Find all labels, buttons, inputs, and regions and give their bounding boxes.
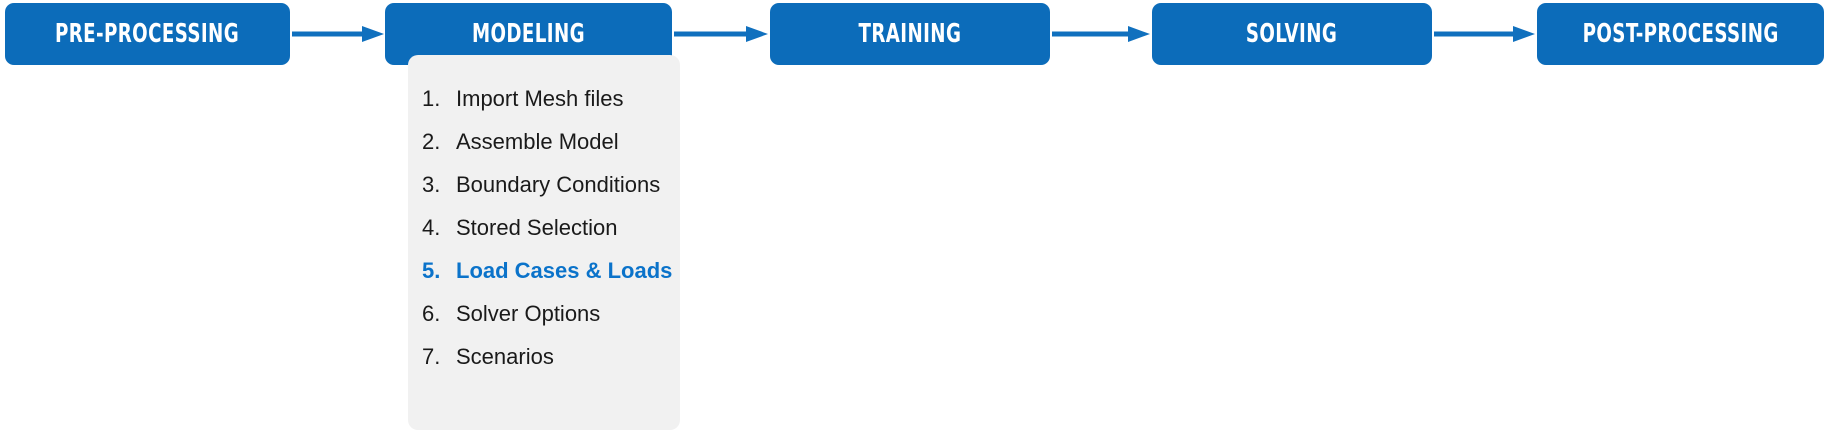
stage-label: SOLVING bbox=[1246, 21, 1337, 47]
list-item-label: Boundary Conditions bbox=[456, 163, 660, 206]
list-item-number: 6. bbox=[422, 292, 456, 335]
stage-label: MODELING bbox=[472, 21, 585, 47]
list-item-label: Scenarios bbox=[456, 335, 554, 378]
modeling-step-list: 1. Import Mesh files 2. Assemble Model 3… bbox=[408, 77, 680, 378]
arrow-right-icon-2 bbox=[674, 25, 768, 43]
arrow-right-icon-1 bbox=[292, 25, 384, 43]
arrow-right-icon-3 bbox=[1052, 25, 1150, 43]
list-item-number: 4. bbox=[422, 206, 456, 249]
list-item[interactable]: 4. Stored Selection bbox=[408, 206, 680, 249]
list-item[interactable]: 7. Scenarios bbox=[408, 335, 680, 378]
list-item-number: 1. bbox=[422, 77, 456, 120]
list-item[interactable]: 3. Boundary Conditions bbox=[408, 163, 680, 206]
list-item[interactable]: 2. Assemble Model bbox=[408, 120, 680, 163]
stage-label: PRE-PROCESSING bbox=[55, 21, 239, 47]
list-item-number: 3. bbox=[422, 163, 456, 206]
list-item-number: 2. bbox=[422, 120, 456, 163]
list-item-active[interactable]: 5. Load Cases & Loads bbox=[408, 249, 680, 292]
list-item-label: Assemble Model bbox=[456, 120, 619, 163]
stage-label: TRAINING bbox=[859, 21, 962, 47]
stage-box-post-processing[interactable]: POST-PROCESSING bbox=[1537, 3, 1824, 65]
list-item-number: 5. bbox=[422, 249, 456, 292]
list-item[interactable]: 6. Solver Options bbox=[408, 292, 680, 335]
list-item[interactable]: 1. Import Mesh files bbox=[408, 77, 680, 120]
stage-box-training[interactable]: TRAINING bbox=[770, 3, 1050, 65]
list-item-label: Import Mesh files bbox=[456, 77, 624, 120]
stage-box-pre-processing[interactable]: PRE-PROCESSING bbox=[5, 3, 290, 65]
list-item-number: 7. bbox=[422, 335, 456, 378]
list-item-label: Load Cases & Loads bbox=[456, 249, 672, 292]
list-item-label: Solver Options bbox=[456, 292, 600, 335]
modeling-detail-panel: 1. Import Mesh files 2. Assemble Model 3… bbox=[408, 55, 680, 430]
stage-box-solving[interactable]: SOLVING bbox=[1152, 3, 1432, 65]
workflow-diagram: PRE-PROCESSING MODELING TRAINING SOLVING… bbox=[0, 0, 1830, 436]
list-item-label: Stored Selection bbox=[456, 206, 617, 249]
stage-label: POST-PROCESSING bbox=[1582, 21, 1778, 47]
arrow-right-icon-4 bbox=[1434, 25, 1535, 43]
